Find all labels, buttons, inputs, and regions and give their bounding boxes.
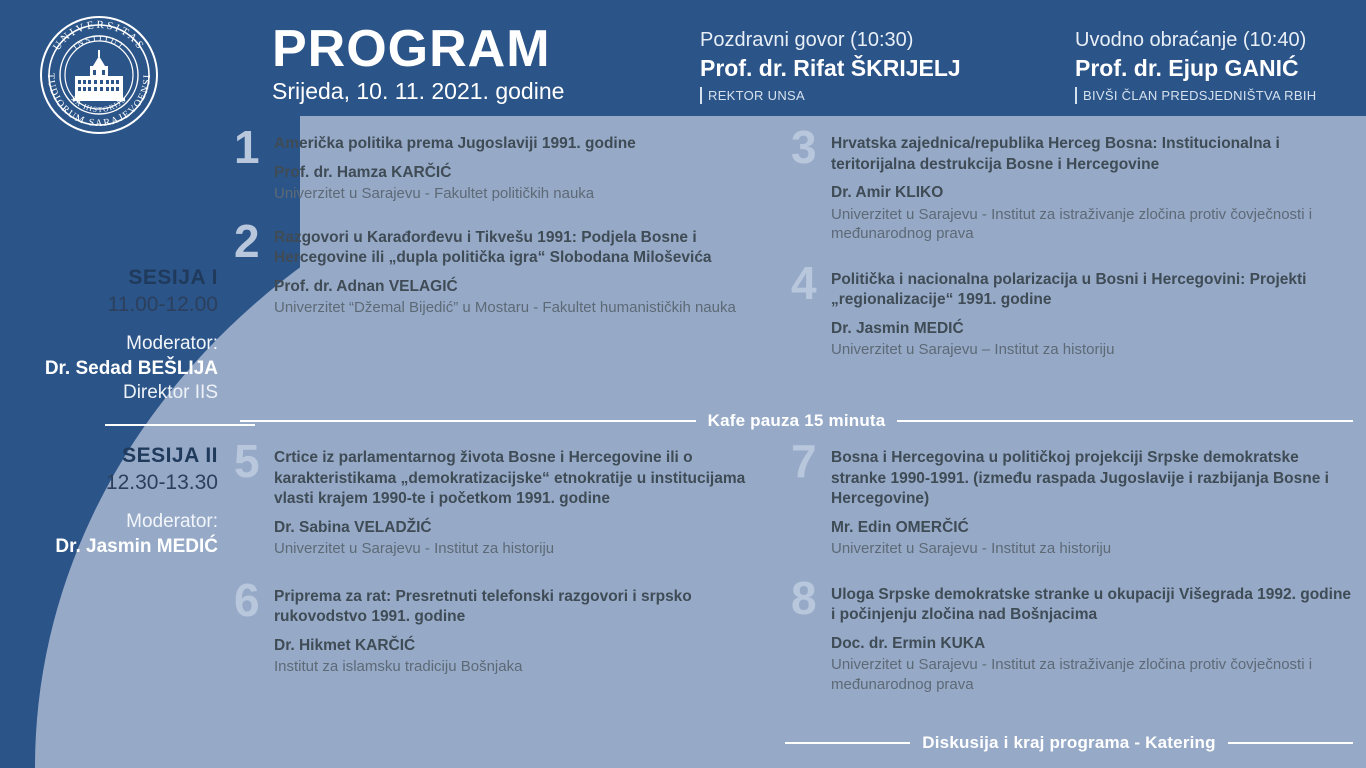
- program-title-block: PROGRAM Srijeda, 10. 11. 2021. godine: [272, 22, 564, 104]
- program-entry: 7 Bosna i Hercegovina u političkoj proje…: [793, 448, 1353, 559]
- session-time: 11.00-12.00: [18, 291, 218, 319]
- program-entry: 5 Crtice iz parlamentarnog života Bosne …: [236, 448, 781, 559]
- entry-speaker: Prof. dr. Adnan VELAGIĆ: [274, 277, 781, 298]
- speaker-affiliation: REKTOR UNSA: [700, 87, 805, 104]
- entry-speaker: Mr. Edin OMERČIĆ: [831, 518, 1353, 539]
- entry-title: Uloga Srpske demokratske stranke u okupa…: [831, 585, 1353, 626]
- sessions-sidebar: SESIJA I 11.00-12.00 Moderator: Dr. Seda…: [18, 265, 218, 559]
- session2-right-column: 7 Bosna i Hercegovina u političkoj proje…: [793, 448, 1353, 694]
- divider-line-left: [240, 420, 696, 422]
- speaker-name: Prof. dr. Rifat ŠKRIJELJ: [700, 54, 961, 82]
- closing-label: Diskusija i kraj programa - Katering: [910, 733, 1227, 753]
- entry-affiliation: Institut za islamsku tradiciju Bošnjaka: [274, 657, 781, 677]
- entry-number: 4: [791, 260, 817, 306]
- program-date: Srijeda, 10. 11. 2021. godine: [272, 78, 564, 104]
- entry-title: Bosna i Hercegovina u političkoj projekc…: [831, 448, 1353, 510]
- moderator-label: Moderator:: [18, 331, 218, 357]
- entry-speaker: Doc. dr. Ermin KUKA: [831, 634, 1353, 655]
- header-speaker-1: Pozdravni govor (10:30) Prof. dr. Rifat …: [700, 28, 961, 105]
- entry-title: Razgovori u Karađorđevu i Tikvešu 1991: …: [274, 228, 781, 269]
- program-entry: 6 Priprema za rat: Presretnuti telefonsk…: [236, 587, 781, 677]
- program-entry: 4 Politička i nacionalna polarizacija u …: [793, 270, 1353, 360]
- divider-line-left: [785, 742, 910, 744]
- page-title: PROGRAM: [272, 22, 564, 76]
- entry-affiliation: Univerzitet “Džemal Bijedić” u Mostaru -…: [274, 298, 781, 318]
- speaker-affiliation: BIVŠI ČLAN PREDSJEDNIŠTVA RBIH: [1075, 87, 1316, 104]
- session2-left-column: 5 Crtice iz parlamentarnog života Bosne …: [236, 448, 781, 677]
- session-name: SESIJA II: [18, 443, 218, 469]
- program-entry: 2 Razgovori u Karađorđevu i Tikvešu 1991…: [236, 228, 781, 318]
- program-entry: 1 Američka politika prema Jugoslaviji 19…: [236, 134, 781, 204]
- entry-number: 2: [234, 218, 260, 264]
- break-label: Kafe pauza 15 minuta: [696, 411, 898, 431]
- speaker-role: Pozdravni govor (10:30): [700, 28, 961, 53]
- entry-affiliation: Univerzitet u Sarajevu – Institut za his…: [831, 340, 1353, 360]
- divider-line-right: [897, 420, 1353, 422]
- entry-number: 5: [234, 438, 260, 484]
- session-divider-line: [105, 424, 255, 426]
- entry-title: Crtice iz parlamentarnog života Bosne i …: [274, 448, 781, 510]
- session1-left-column: 1 Američka politika prema Jugoslaviji 19…: [236, 134, 781, 318]
- program-poster: UNIVERSITAS STUDIORUM SARAJEVOENSIS INST…: [0, 0, 1366, 768]
- moderator-name: Dr. Sedad BEŠLIJA: [18, 357, 218, 381]
- entry-number: 8: [791, 575, 817, 621]
- entry-affiliation: Univerzitet u Sarajevu - Institut za his…: [831, 539, 1353, 559]
- moderator-role: Direktor IIS: [18, 381, 218, 405]
- entry-speaker: Dr. Jasmin MEDIĆ: [831, 319, 1353, 340]
- speaker-role: Uvodno obraćanje (10:40): [1075, 28, 1316, 53]
- entry-title: Priprema za rat: Presretnuti telefonski …: [274, 587, 781, 628]
- entry-affiliation: Univerzitet u Sarajevu - Institut za ist…: [831, 655, 1353, 694]
- closing-banner: Diskusija i kraj programa - Katering: [240, 733, 1353, 753]
- entry-speaker: Prof. dr. Hamza KARČIĆ: [274, 163, 781, 184]
- moderator-name: Dr. Jasmin MEDIĆ: [18, 535, 218, 559]
- entry-title: Američka politika prema Jugoslaviji 1991…: [274, 134, 781, 155]
- seal-icon: UNIVERSITAS STUDIORUM SARAJEVOENSIS INST…: [38, 14, 160, 136]
- divider-line-right: [1228, 742, 1353, 744]
- entry-number: 3: [791, 124, 817, 170]
- entry-number: 7: [791, 438, 817, 484]
- entry-speaker: Dr. Sabina VELADŽIĆ: [274, 518, 781, 539]
- header-speaker-2: Uvodno obraćanje (10:40) Prof. dr. Ejup …: [1075, 28, 1316, 105]
- entry-number: 1: [234, 124, 260, 170]
- moderator-label: Moderator:: [18, 509, 218, 535]
- session1-right-column: 3 Hrvatska zajednica/republika Herceg Bo…: [793, 134, 1353, 360]
- entry-title: Hrvatska zajednica/republika Herceg Bosn…: [831, 134, 1353, 175]
- session-time: 12.30-13.30: [18, 469, 218, 497]
- entry-number: 6: [234, 577, 260, 623]
- entry-speaker: Dr. Hikmet KARČIĆ: [274, 636, 781, 657]
- session-block-2: SESIJA II 12.30-13.30 Moderator: Dr. Jas…: [18, 443, 218, 559]
- entry-title: Politička i nacionalna polarizacija u Bo…: [831, 270, 1353, 311]
- session-block-1: SESIJA I 11.00-12.00 Moderator: Dr. Seda…: [18, 265, 218, 405]
- building-glyph: [73, 50, 125, 101]
- coffee-break-banner: Kafe pauza 15 minuta: [240, 411, 1353, 431]
- speaker-name: Prof. dr. Ejup GANIĆ: [1075, 54, 1316, 82]
- entry-affiliation: Univerzitet u Sarajevu - Institut za ist…: [831, 205, 1353, 244]
- session-name: SESIJA I: [18, 265, 218, 291]
- program-entry: 8 Uloga Srpske demokratske stranke u oku…: [793, 585, 1353, 695]
- university-seal-logo: UNIVERSITAS STUDIORUM SARAJEVOENSIS INST…: [38, 14, 160, 136]
- entry-affiliation: Univerzitet u Sarajevu - Institut za his…: [274, 539, 781, 559]
- entry-affiliation: Univerzitet u Sarajevu - Fakultet politi…: [274, 184, 781, 204]
- program-entry: 3 Hrvatska zajednica/republika Herceg Bo…: [793, 134, 1353, 244]
- entry-speaker: Dr. Amir KLIKO: [831, 183, 1353, 204]
